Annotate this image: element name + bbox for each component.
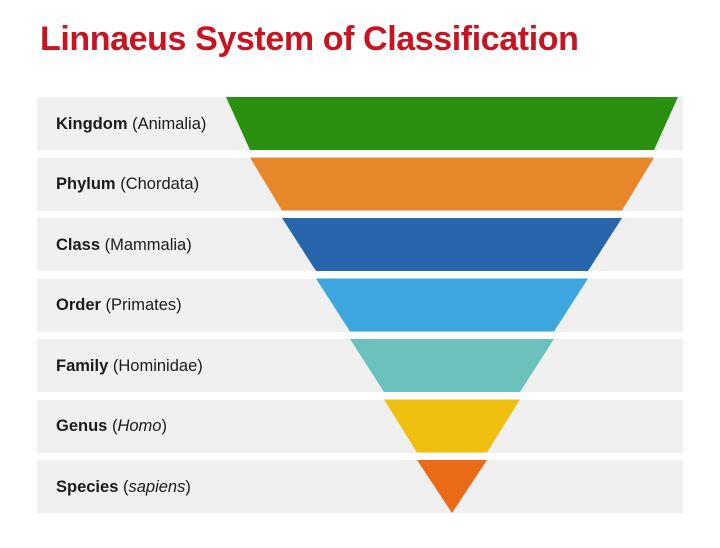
page-title: Linnaeus System of Classification: [40, 19, 579, 60]
paren-close: ): [176, 296, 182, 314]
paren-close: ): [201, 114, 207, 132]
taxon-name: Homo: [117, 417, 161, 435]
infographic-canvas: Linnaeus System of Classification Kingdo…: [0, 0, 720, 548]
rank-row-label: Family (Hominidae): [56, 357, 203, 374]
rank-row: Order (Primates): [37, 279, 683, 332]
rank-row-label: Species (sapiens): [56, 478, 191, 495]
taxon-name: Primates: [111, 296, 176, 314]
paren-close: ): [194, 175, 200, 193]
paren-open: (: [101, 296, 111, 314]
rank-row: Kingdom (Animalia): [37, 97, 683, 150]
paren-close: ): [185, 477, 191, 495]
rank-name: Kingdom: [56, 114, 128, 132]
rank-name: Species: [56, 477, 118, 495]
paren-close: ): [186, 235, 192, 253]
rank-row: Genus (Homo): [37, 400, 683, 453]
rank-row: Class (Mammalia): [37, 218, 683, 271]
paren-open: (: [107, 417, 117, 435]
taxon-name: Animalia: [138, 114, 201, 132]
paren-close: ): [161, 417, 167, 435]
paren-open: (: [116, 175, 126, 193]
rank-row-label: Genus (Homo): [56, 418, 167, 435]
paren-open: (: [128, 114, 138, 132]
rank-row-label: Order (Primates): [56, 297, 182, 314]
rank-row-label: Class (Mammalia): [56, 236, 192, 253]
taxon-name: Mammalia: [110, 235, 186, 253]
taxon-name: Hominidae: [118, 356, 197, 374]
rank-row: Family (Hominidae): [37, 339, 683, 392]
rank-row: Species (sapiens): [37, 460, 683, 513]
rank-row-label: Kingdom (Animalia): [56, 115, 206, 132]
rank-name: Order: [56, 296, 101, 314]
paren-open: (: [108, 356, 118, 374]
paren-close: ): [197, 356, 203, 374]
paren-open: (: [100, 235, 110, 253]
rank-name: Genus: [56, 417, 107, 435]
rank-name: Family: [56, 356, 108, 374]
rank-name: Phylum: [56, 175, 116, 193]
rank-name: Class: [56, 235, 100, 253]
rank-row: Phylum (Chordata): [37, 158, 683, 211]
rank-row-label: Phylum (Chordata): [56, 176, 199, 193]
taxon-name: sapiens: [128, 477, 185, 495]
taxon-name: Chordata: [126, 175, 194, 193]
rank-row-list: Kingdom (Animalia)Phylum (Chordata)Class…: [37, 97, 683, 521]
paren-open: (: [118, 477, 128, 495]
